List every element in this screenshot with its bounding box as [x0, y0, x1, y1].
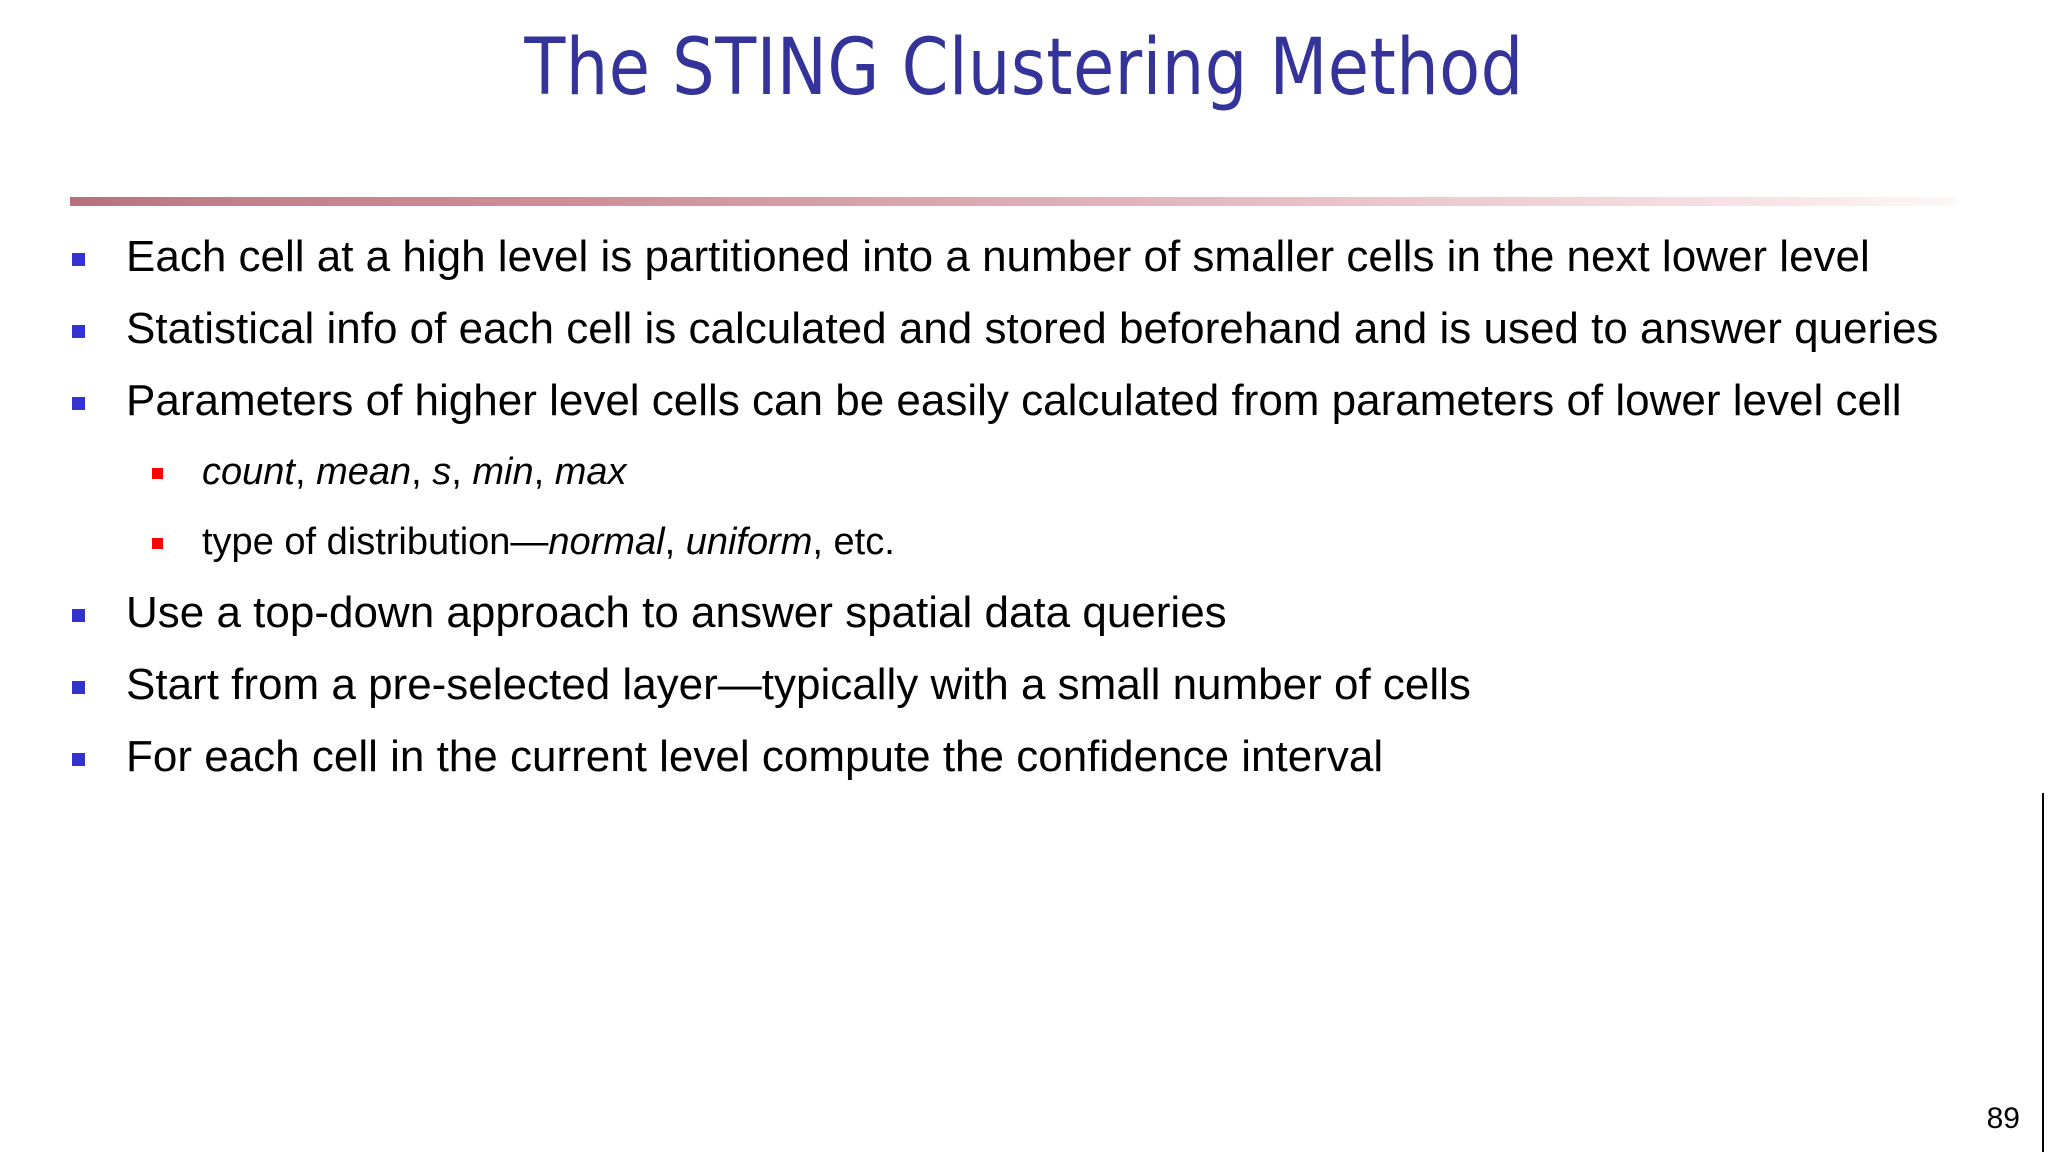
bullet-text: Use a top-down approach to answer spatia…: [126, 582, 2002, 644]
bullet-text-run: , etc.: [812, 521, 894, 563]
bullet-text-run: ,: [295, 451, 316, 493]
bullet-item: count, mean, s, min, max: [62, 442, 2002, 502]
bullet-text: type of distribution—normal, uniform, et…: [202, 512, 2002, 572]
bullet-text-run: count: [202, 451, 295, 493]
bullet-text: For each cell in the current level compu…: [126, 726, 2002, 788]
square-bullet-blue-icon: [72, 753, 85, 766]
page-title: The STING Clustering Method: [143, 26, 1904, 110]
right-edge-rule: [2042, 793, 2044, 1152]
bullet-item: For each cell in the current level compu…: [62, 726, 2002, 788]
square-bullet-blue-icon: [72, 681, 85, 694]
square-bullet-blue-icon: [72, 397, 85, 410]
bullet-text: Each cell at a high level is partitioned…: [126, 226, 2002, 288]
square-bullet-blue-icon: [72, 609, 85, 622]
bullet-item: Each cell at a high level is partitioned…: [62, 226, 2002, 288]
bullet-text: Start from a pre-selected layer—typicall…: [126, 654, 2002, 716]
bullet-text-run: type of distribution—: [202, 521, 548, 563]
bullet-item: Start from a pre-selected layer—typicall…: [62, 654, 2002, 716]
bullet-text-run: uniform: [686, 521, 813, 563]
page-number: 89: [1987, 1104, 2020, 1134]
bullet-text: count, mean, s, min, max: [202, 442, 2002, 502]
bullet-text-run: normal: [548, 521, 664, 563]
bullet-item: Parameters of higher level cells can be …: [62, 370, 2002, 432]
bullet-item: type of distribution—normal, uniform, et…: [62, 512, 2002, 572]
bullet-text-run: mean: [316, 451, 411, 493]
bullet-text: Statistical info of each cell is calcula…: [126, 298, 2002, 360]
bullet-text-run: min: [472, 451, 533, 493]
bullet-list: Each cell at a high level is partitioned…: [62, 226, 2002, 798]
bullet-text-run: max: [555, 451, 627, 493]
bullet-text-run: ,: [411, 451, 432, 493]
slide: The STING Clustering Method Each cell at…: [0, 0, 2048, 1152]
bullet-text-run: ,: [665, 521, 686, 563]
square-bullet-blue-icon: [72, 253, 85, 266]
bullet-text-run: ,: [451, 451, 472, 493]
bullet-text: Parameters of higher level cells can be …: [126, 370, 2002, 432]
bullet-item: Statistical info of each cell is calcula…: [62, 298, 2002, 360]
bullet-item: Use a top-down approach to answer spatia…: [62, 582, 2002, 644]
square-bullet-blue-icon: [72, 325, 85, 338]
square-bullet-red-icon: [152, 468, 163, 479]
title-divider-rule: [70, 197, 1956, 206]
bullet-text-run: s: [432, 451, 451, 493]
square-bullet-red-icon: [152, 538, 163, 549]
bullet-text-run: ,: [534, 451, 555, 493]
